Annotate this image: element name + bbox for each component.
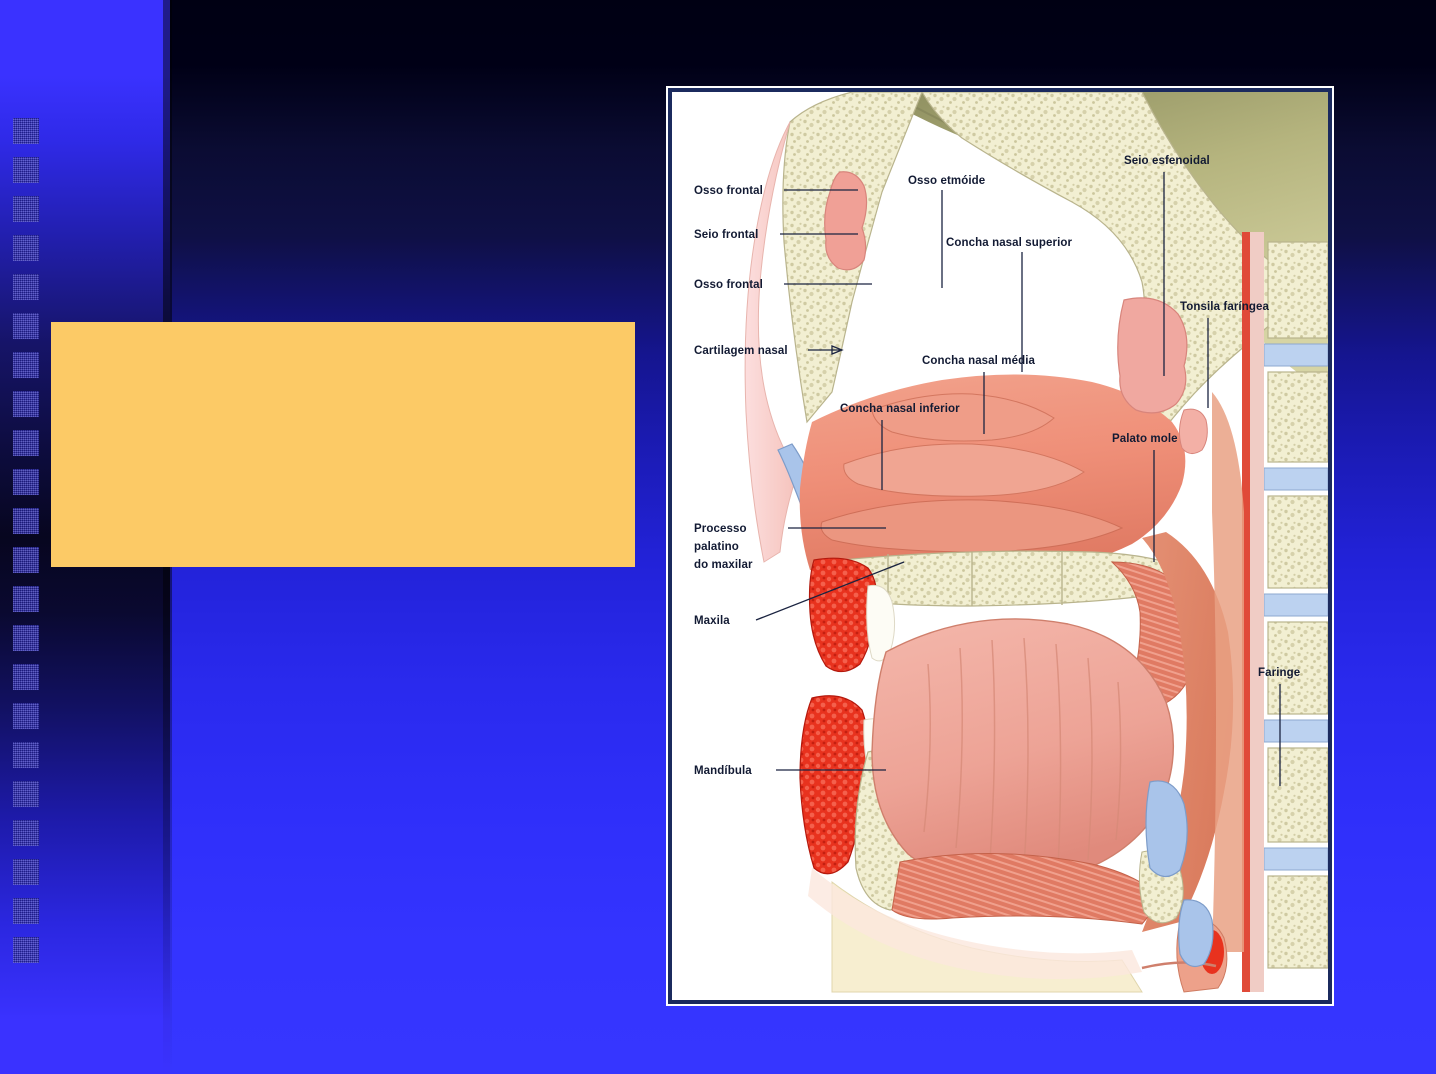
textured-square: [13, 313, 39, 339]
textured-square: [13, 196, 39, 222]
textured-square: [13, 547, 39, 573]
content-placeholder-box[interactable]: [51, 322, 635, 567]
textured-square: [13, 703, 39, 729]
svg-text:Concha nasal superior: Concha nasal superior: [946, 237, 1073, 249]
textured-square: [13, 157, 39, 183]
svg-text:do maxilar: do maxilar: [694, 559, 753, 571]
textured-square: [13, 937, 39, 963]
sidebar-square-column: [13, 118, 47, 978]
svg-text:Osso etmóide: Osso etmóide: [908, 175, 985, 187]
svg-text:Seio frontal: Seio frontal: [694, 229, 758, 241]
svg-text:Concha nasal média: Concha nasal média: [922, 355, 1036, 367]
svg-text:Processo: Processo: [694, 523, 747, 535]
textured-square: [13, 859, 39, 885]
textured-square: [13, 664, 39, 690]
textured-square: [13, 781, 39, 807]
svg-text:Osso frontal: Osso frontal: [694, 185, 763, 197]
svg-text:palatino: palatino: [694, 541, 739, 553]
textured-square: [13, 352, 39, 378]
textured-square: [13, 742, 39, 768]
textured-square: [13, 235, 39, 261]
presentation-slide: Osso frontal Seio frontal Osso frontal C…: [0, 0, 1436, 1074]
svg-text:Cartilagem nasal: Cartilagem nasal: [694, 345, 788, 357]
svg-text:Concha nasal inferior: Concha nasal inferior: [840, 403, 960, 415]
textured-square: [13, 430, 39, 456]
textured-square: [13, 469, 39, 495]
svg-text:Tonsila faríngea: Tonsila faríngea: [1180, 301, 1269, 313]
svg-text:Seio esfenoidal: Seio esfenoidal: [1124, 155, 1210, 167]
textured-square: [13, 898, 39, 924]
svg-text:Palato mole: Palato mole: [1112, 433, 1178, 445]
textured-square: [13, 274, 39, 300]
svg-text:Faringe: Faringe: [1258, 667, 1300, 679]
textured-square: [13, 508, 39, 534]
svg-text:Osso frontal: Osso frontal: [694, 279, 763, 291]
textured-square: [13, 625, 39, 651]
textured-square: [13, 586, 39, 612]
anatomy-illustration: Osso frontal Seio frontal Osso frontal C…: [672, 92, 1328, 1000]
textured-square: [13, 391, 39, 417]
textured-square: [13, 118, 39, 144]
anatomy-figure-frame[interactable]: Osso frontal Seio frontal Osso frontal C…: [668, 88, 1332, 1004]
svg-text:Mandíbula: Mandíbula: [694, 765, 752, 777]
textured-square: [13, 820, 39, 846]
svg-text:Maxila: Maxila: [694, 615, 730, 627]
